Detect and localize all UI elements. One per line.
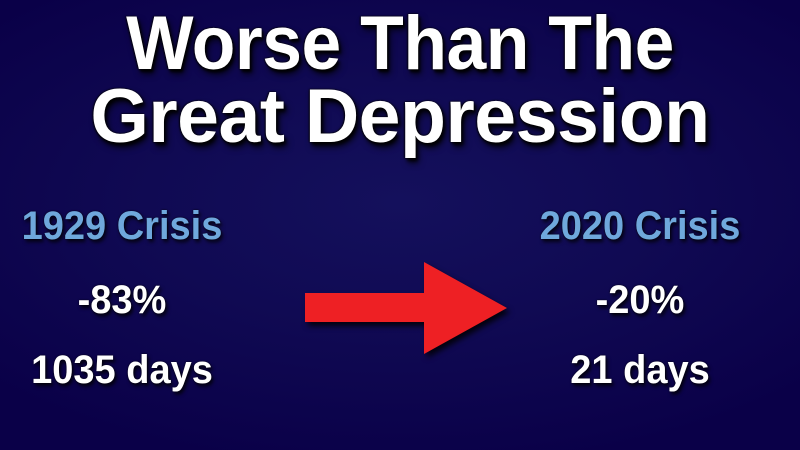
crisis-1929-duration: 1035 days xyxy=(0,350,274,390)
crisis-column-2020: 2020 Crisis -20% 21 days xyxy=(480,206,800,390)
page-title: Worse Than The Great Depression xyxy=(0,8,800,153)
title-line-2: Great Depression xyxy=(4,81,796,152)
right-arrow-icon xyxy=(300,255,512,361)
crisis-1929-decline: -83% xyxy=(0,280,274,320)
thumbnail-canvas: Worse Than The Great Depression 1929 Cri… xyxy=(0,0,800,450)
crisis-2020-heading: 2020 Crisis xyxy=(488,206,792,246)
crisis-2020-duration: 21 days xyxy=(488,350,792,390)
crisis-1929-heading: 1929 Crisis xyxy=(0,206,274,246)
crisis-column-1929: 1929 Crisis -83% 1035 days xyxy=(0,206,282,390)
title-line-1: Worse Than The xyxy=(24,8,776,79)
crisis-2020-decline: -20% xyxy=(488,280,792,320)
